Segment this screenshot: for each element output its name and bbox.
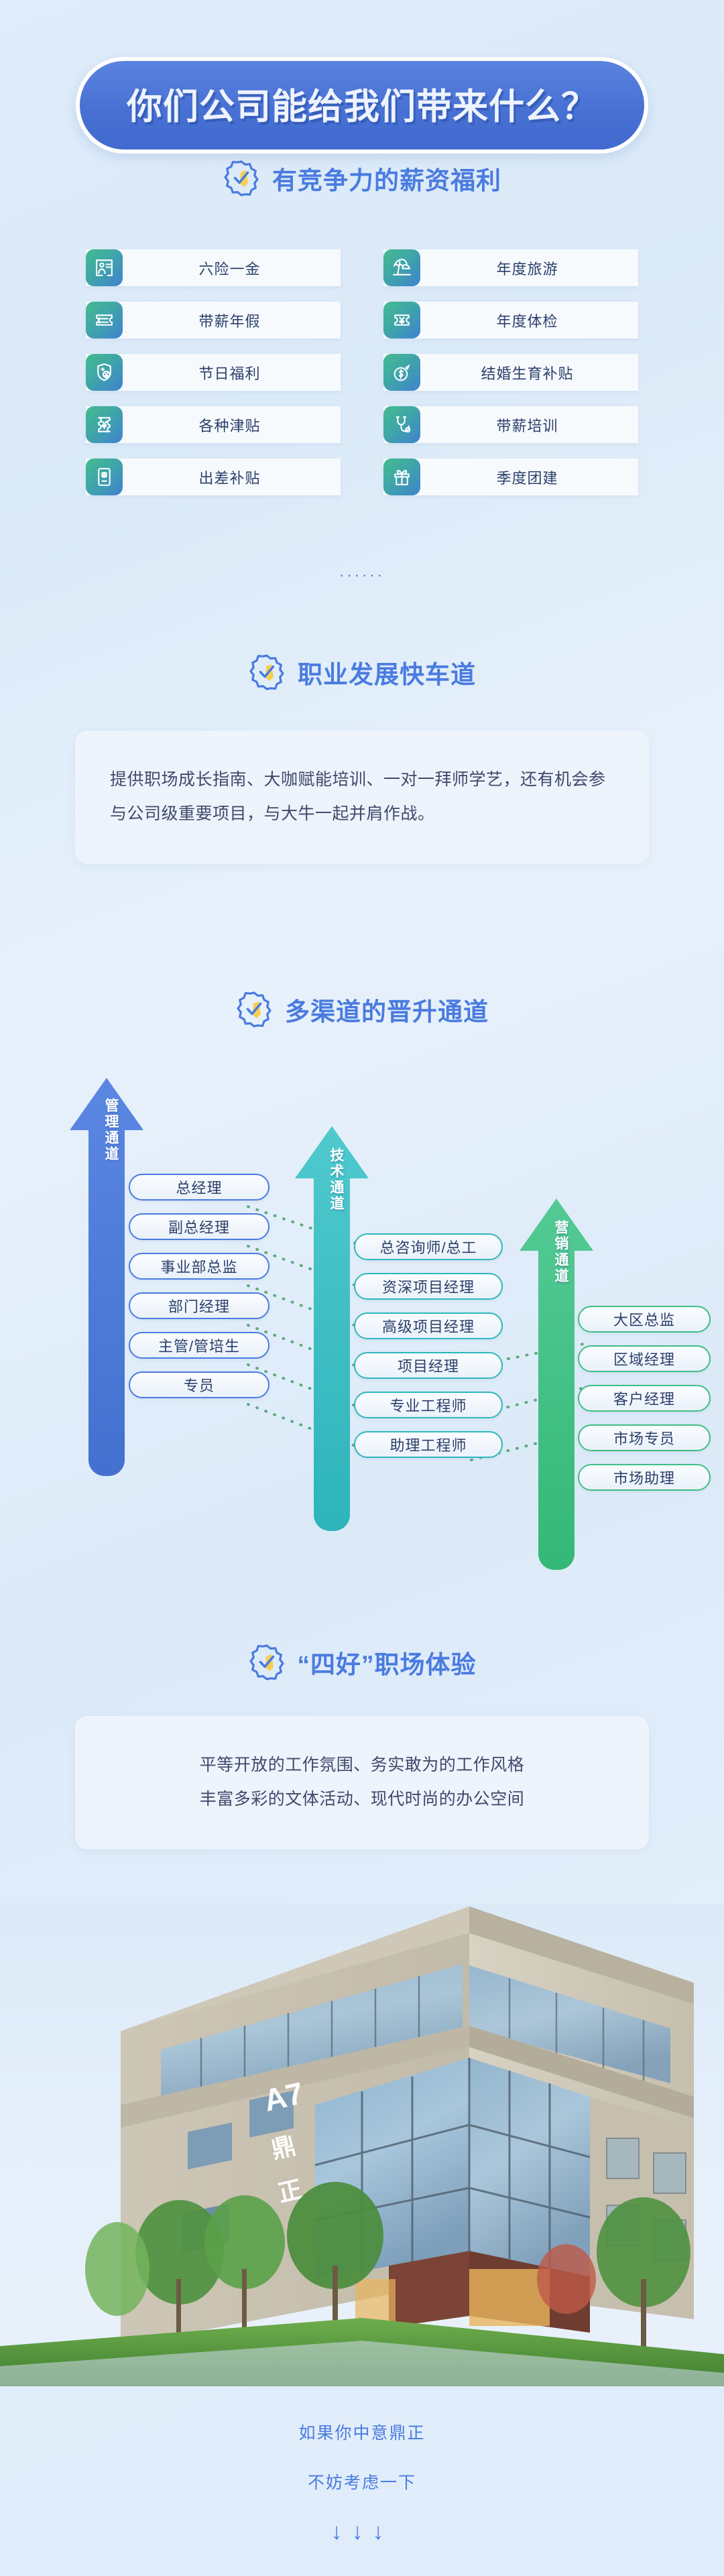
id-card-icon: [86, 249, 123, 286]
banner-outline: 你们公司能给我们带来什么？: [76, 57, 648, 154]
ladder-rung[interactable]: 高级项目经理: [354, 1312, 503, 1339]
benefit-item[interactable]: 年度体检: [383, 302, 638, 339]
benefit-item[interactable]: 六险一金: [86, 249, 341, 286]
marketing-rungs: 大区总监 区域经理 客户经理 市场专员 市场助理: [578, 1306, 711, 1504]
footer-line-1: 如果你中意鼎正: [0, 2420, 724, 2444]
benefit-item[interactable]: 结婚生育补贴: [383, 354, 638, 391]
benefit-label: 季度团建: [420, 467, 638, 488]
benefit-item[interactable]: 出差补贴: [86, 458, 341, 495]
career-text-card: 提供职场成长指南、大咖赋能培训、一对一拜师学艺，还有机会参与公司级重要项目，与大…: [75, 731, 649, 864]
check-badge-icon: [248, 654, 286, 691]
benefits-more-ellipsis: ······: [0, 566, 724, 584]
career-description: 提供职场成长指南、大咖赋能培训、一对一拜师学艺，还有机会参与公司级重要项目，与大…: [110, 763, 614, 832]
section-title-culture: “四好”职场体验: [298, 1644, 477, 1680]
footer-line-2: 不妨考虑一下: [0, 2469, 724, 2494]
ladder-rung[interactable]: 部门经理: [129, 1292, 269, 1319]
beach-umbrella-icon: [383, 249, 420, 286]
benefit-item[interactable]: 年度旅游: [383, 249, 638, 286]
technical-channel-label: 技术通道: [326, 1148, 346, 1212]
benefits-grid: 六险一金 年度旅游 带薪年假: [86, 249, 638, 495]
ladder-rung[interactable]: 助理工程师: [354, 1431, 503, 1458]
culture-line-2: 丰富多彩的文体活动、现代时尚的办公空间: [110, 1782, 614, 1817]
benefit-label: 带薪培训: [420, 414, 638, 436]
marketing-channel-label: 营销通道: [550, 1220, 570, 1284]
management-channel-label: 管理通道: [101, 1098, 121, 1162]
building-illustration: A7 鼎 正: [0, 1904, 724, 2386]
ladder-rung[interactable]: 总咨询师/总工: [354, 1233, 503, 1260]
voucher-icon: [86, 458, 123, 495]
promotion-ladder-diagram: 管理通道 总经理 副总经理 事业部总监 部门经理 主管/管培生 专员 技术通道: [0, 1078, 724, 1607]
office-building-photo: A7 鼎 正: [0, 1904, 724, 2386]
yuan-ticket-icon: [86, 406, 123, 443]
banner-pill: 你们公司能给我们带来什么？: [80, 61, 644, 149]
benefit-label: 各种津贴: [123, 414, 341, 436]
page-title: 你们公司能给我们带来什么？: [127, 78, 597, 129]
benefit-label: 年度体检: [420, 310, 638, 331]
benefit-label: 出差补贴: [123, 467, 341, 488]
section-title-salary: 有竞争力的薪资福利: [272, 160, 501, 196]
benefit-item[interactable]: 带薪培训: [383, 406, 638, 443]
ladder-rung[interactable]: 市场专员: [578, 1424, 711, 1451]
ticket-icon: [86, 302, 123, 339]
section-title-career: 职业发展快车道: [298, 654, 476, 690]
section-heading-promotion: 多渠道的晋升通道: [0, 991, 724, 1028]
ladder-rung[interactable]: 区域经理: [578, 1345, 711, 1372]
ladder-rung[interactable]: 事业部总监: [129, 1253, 269, 1280]
benefit-item[interactable]: 节日福利: [86, 354, 341, 391]
section-heading-culture: “四好”职场体验: [0, 1644, 724, 1681]
header-banner: 你们公司能给我们带来什么？: [0, 57, 724, 154]
check-badge-icon: [223, 160, 260, 197]
benefit-label: 年度旅游: [420, 257, 638, 279]
ladder-rung[interactable]: 专业工程师: [354, 1392, 503, 1418]
ladder-rung[interactable]: 主管/管培生: [129, 1332, 269, 1359]
yuan-ticket-icon: [383, 302, 420, 339]
section-heading-career: 职业发展快车道: [0, 654, 724, 691]
section-heading-salary: 有竞争力的薪资福利: [0, 160, 724, 197]
ladder-rung[interactable]: 副总经理: [129, 1213, 269, 1240]
gift-icon: [383, 458, 420, 495]
culture-line-1: 平等开放的工作氛围、务实敢为的工作风格: [110, 1748, 614, 1782]
benefit-item[interactable]: 带薪年假: [86, 302, 341, 339]
culture-text-card: 平等开放的工作氛围、务实敢为的工作风格 丰富多彩的文体活动、现代时尚的办公空间: [75, 1716, 649, 1849]
check-badge-icon: [248, 1644, 286, 1681]
ladder-rung[interactable]: 大区总监: [578, 1306, 711, 1333]
stethoscope-icon: [383, 406, 420, 443]
shield-gift-icon: [86, 354, 123, 391]
ladder-rung[interactable]: 资深项目经理: [354, 1273, 503, 1300]
benefit-label: 六险一金: [123, 257, 341, 279]
ladder-rung[interactable]: 总经理: [129, 1174, 269, 1201]
management-rungs: 总经理 副总经理 事业部总监 部门经理 主管/管培生 专员: [129, 1174, 269, 1411]
footer: 如果你中意鼎正 不妨考虑一下 ↓↓↓: [0, 2420, 724, 2545]
dollar-plane-icon: [383, 354, 420, 391]
ladder-rung[interactable]: 客户经理: [578, 1385, 711, 1412]
benefit-item[interactable]: 季度团建: [383, 458, 638, 495]
down-arrows-icon: ↓↓↓: [0, 2519, 724, 2545]
ladder-rung[interactable]: 专员: [129, 1371, 269, 1398]
section-title-promotion: 多渠道的晋升通道: [285, 991, 489, 1028]
ladder-rung[interactable]: 项目经理: [354, 1352, 503, 1379]
benefit-label: 节日福利: [123, 362, 341, 383]
technical-rungs: 总咨询师/总工 资深项目经理 高级项目经理 项目经理 专业工程师 助理工程师: [354, 1233, 503, 1471]
ladder-rung[interactable]: 市场助理: [578, 1464, 711, 1491]
poster-page: 你们公司能给我们带来什么？ 有竞争力的薪资福利 六: [0, 0, 724, 2576]
benefit-item[interactable]: 各种津贴: [86, 406, 341, 443]
benefit-label: 带薪年假: [123, 310, 341, 331]
benefit-label: 结婚生育补贴: [420, 362, 638, 383]
check-badge-icon: [235, 991, 273, 1028]
